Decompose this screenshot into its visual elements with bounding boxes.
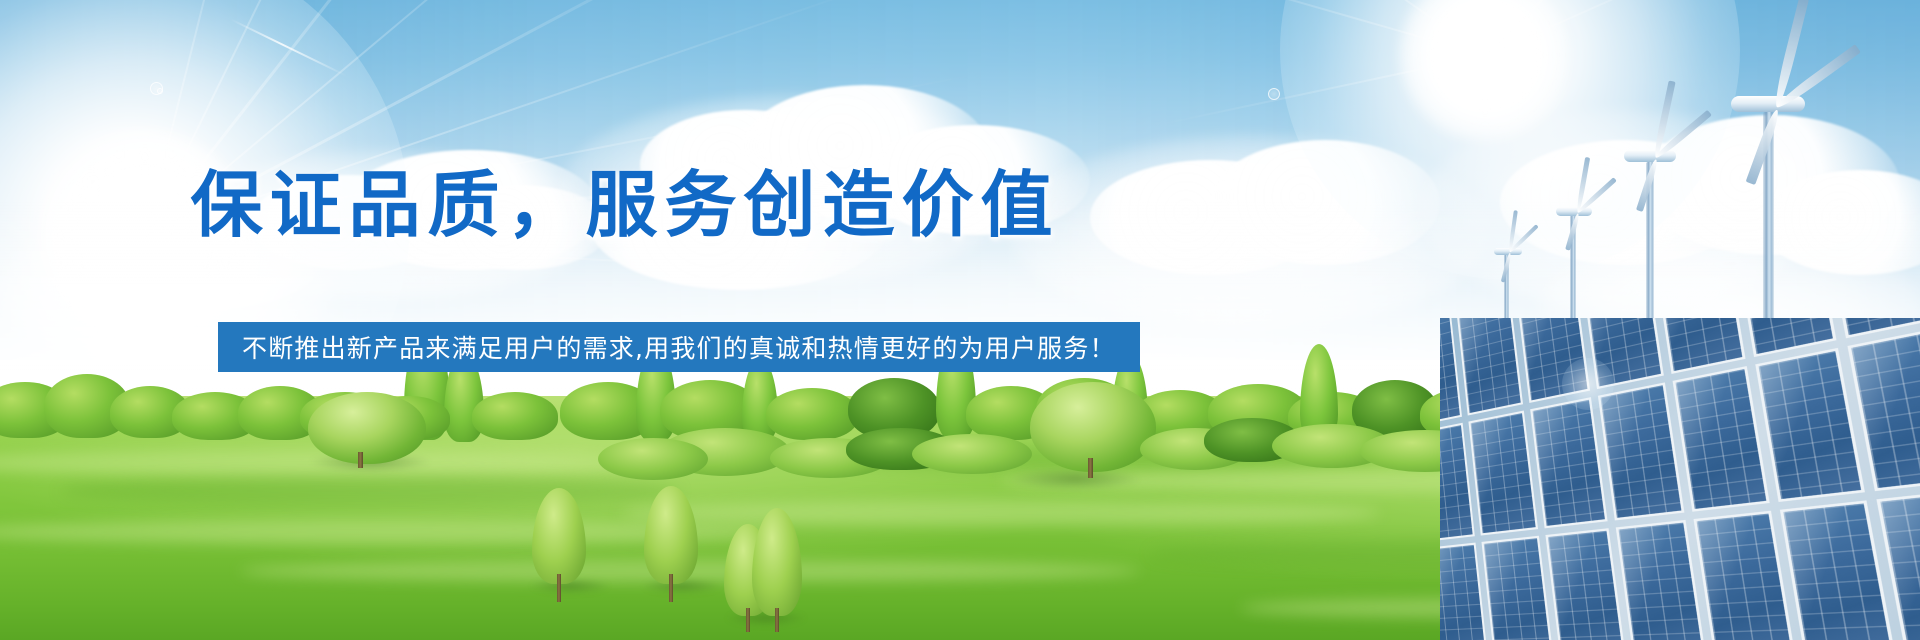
solar-cell: [1440, 543, 1488, 640]
solar-cell: [1530, 397, 1608, 529]
tree-trunk: [669, 574, 673, 602]
lens-flare-dot: [1268, 88, 1280, 100]
solar-cell: [1755, 347, 1865, 502]
solar-cell: [1780, 501, 1896, 640]
solar-cell: [1581, 318, 1664, 389]
tree-trunk: [775, 608, 779, 632]
solar-cell: [1616, 520, 1707, 640]
round-tree: [308, 392, 426, 464]
tree-trunk: [1088, 458, 1093, 478]
bush: [598, 438, 708, 480]
tree-trunk: [358, 452, 363, 468]
solar-cell: [1468, 410, 1538, 536]
solar-cell: [1673, 366, 1770, 512]
banner-headline: 保证品质，服务创造价值: [0, 168, 1250, 244]
tree-trunk: [746, 608, 750, 632]
solar-cell: [1694, 511, 1796, 640]
solar-cell: [1653, 318, 1746, 374]
grass-highlight: [620, 500, 1380, 526]
solar-cell: [1456, 318, 1523, 415]
grass-shade: [60, 476, 680, 506]
tree-trunk: [557, 574, 561, 602]
solar-cell: [1482, 536, 1554, 640]
solar-cell: [1598, 382, 1685, 521]
tree: [472, 392, 558, 440]
hero-banner: 保证品质，服务创造价值 不断推出新产品来满足用户的需求,用我们的真诚和热情更好的…: [0, 0, 1920, 640]
tree: [766, 388, 858, 440]
solar-panel-array: [1440, 318, 1920, 640]
bush: [912, 434, 1032, 474]
solar-cell: [1545, 529, 1626, 640]
solar-panels: [1440, 318, 1920, 640]
banner-subtitle-text: 不断推出新产品来满足用户的需求,用我们的真诚和热情更好的为用户服务！: [242, 329, 1116, 365]
banner-subtitle-bar: 不断推出新产品来满足用户的需求,用我们的真诚和热情更好的为用户服务！: [218, 322, 1140, 372]
lens-flare-dot: [157, 88, 163, 94]
solar-cell: [1515, 318, 1590, 403]
tree-shadow: [1010, 468, 1140, 490]
round-tree: [1030, 382, 1156, 472]
